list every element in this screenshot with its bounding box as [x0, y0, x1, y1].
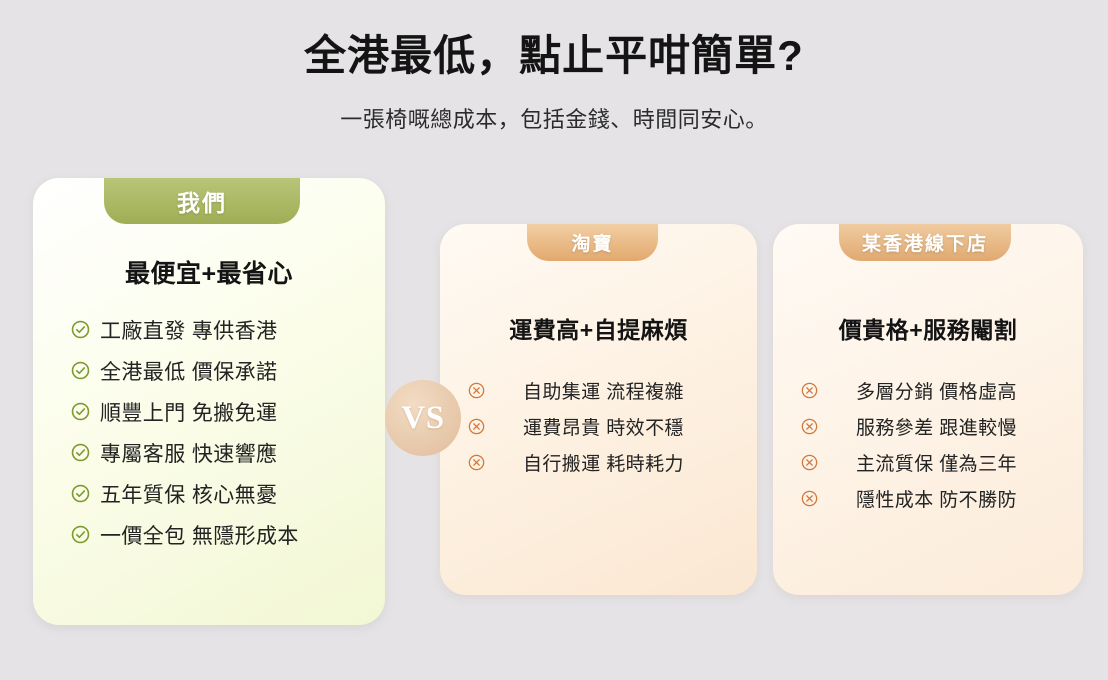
comparison-card-offline-store: 價貴格+服務閹割 多層分銷 價格虛高 服務參差 跟進較慢 主流質保 僅為三年	[773, 224, 1083, 595]
cross-circle-icon	[468, 454, 485, 471]
list-item: 五年質保 核心無憂	[71, 473, 363, 514]
cross-circle-icon	[468, 418, 485, 435]
list-item-label: 服務參差 跟進較慢	[856, 413, 1017, 440]
list-item-label: 全港最低 價保承諾	[100, 356, 277, 386]
comparison-card-taobao: 運費高+自提麻煩 自助集運 流程複雜 運費昂貴 時效不穩 自行搬運 耗時耗力	[440, 224, 757, 595]
card-taobao-badge: 淘寶	[527, 224, 658, 261]
check-circle-icon	[71, 484, 90, 503]
card-offline-badge: 某香港線下店	[839, 224, 1011, 261]
cross-circle-icon	[801, 382, 818, 399]
cross-circle-icon	[801, 490, 818, 507]
list-item: 順豐上門 免搬免運	[71, 391, 363, 432]
list-item: 全港最低 價保承諾	[71, 350, 363, 391]
list-item: 主流質保 僅為三年	[801, 444, 1069, 480]
list-item-label: 隱性成本 防不勝防	[856, 485, 1017, 512]
list-item: 運費昂貴 時效不穩	[468, 408, 743, 444]
vs-divider: VS	[385, 380, 461, 456]
check-circle-icon	[71, 402, 90, 421]
check-circle-icon	[71, 443, 90, 462]
cross-circle-icon	[468, 382, 485, 399]
page-subtitle: 一張椅嘅總成本，包括金錢、時間同安心。	[0, 80, 1108, 134]
list-item: 隱性成本 防不勝防	[801, 480, 1069, 516]
list-item-label: 工廠直發 專供香港	[100, 315, 277, 345]
list-item-label: 主流質保 僅為三年	[856, 449, 1017, 476]
card-us-feature-list: 工廠直發 專供香港 全港最低 價保承諾 順豐上門 免搬免運 專屬客服 快速響應	[71, 309, 363, 555]
card-taobao-heading: 運費高+自提麻煩	[440, 311, 757, 345]
card-taobao-surface: 運費高+自提麻煩 自助集運 流程複雜 運費昂貴 時效不穩 自行搬運 耗時耗力	[440, 224, 757, 595]
list-item-label: 一價全包 無隱形成本	[100, 520, 299, 550]
list-item-label: 順豐上門 免搬免運	[100, 397, 277, 427]
vs-label: VS	[401, 400, 444, 437]
list-item-label: 專屬客服 快速響應	[100, 438, 277, 468]
check-circle-icon	[71, 361, 90, 380]
list-item-label: 五年質保 核心無憂	[100, 479, 277, 509]
list-item-label: 多層分銷 價格虛高	[856, 377, 1017, 404]
list-item: 服務參差 跟進較慢	[801, 408, 1069, 444]
card-offline-feature-list: 多層分銷 價格虛高 服務參差 跟進較慢 主流質保 僅為三年 隱性成本 防不勝防	[801, 372, 1069, 516]
card-offline-surface: 價貴格+服務閹割 多層分銷 價格虛高 服務參差 跟進較慢 主流質保 僅為三年	[773, 224, 1083, 595]
card-us-heading: 最便宜+最省心	[33, 254, 385, 290]
comparison-card-us: 最便宜+最省心 工廠直發 專供香港 全港最低 價保承諾 順豐上門 免搬免運	[33, 178, 385, 625]
card-taobao-feature-list: 自助集運 流程複雜 運費昂貴 時效不穩 自行搬運 耗時耗力	[468, 372, 743, 480]
list-item: 自行搬運 耗時耗力	[468, 444, 743, 480]
list-item-label: 自行搬運 耗時耗力	[523, 449, 684, 476]
card-offline-heading: 價貴格+服務閹割	[773, 311, 1083, 345]
list-item: 多層分銷 價格虛高	[801, 372, 1069, 408]
card-us-badge: 我們	[104, 178, 300, 224]
check-circle-icon	[71, 525, 90, 544]
list-item: 自助集運 流程複雜	[468, 372, 743, 408]
list-item: 一價全包 無隱形成本	[71, 514, 363, 555]
list-item: 專屬客服 快速響應	[71, 432, 363, 473]
list-item-label: 運費昂貴 時效不穩	[523, 413, 684, 440]
header: 全港最低，點止平咁簡單? 一張椅嘅總成本，包括金錢、時間同安心。	[0, 0, 1108, 134]
card-us-surface: 最便宜+最省心 工廠直發 專供香港 全港最低 價保承諾 順豐上門 免搬免運	[33, 178, 385, 625]
page-title: 全港最低，點止平咁簡單?	[0, 0, 1108, 80]
cross-circle-icon	[801, 418, 818, 435]
check-circle-icon	[71, 320, 90, 339]
list-item-label: 自助集運 流程複雜	[523, 377, 684, 404]
list-item: 工廠直發 專供香港	[71, 309, 363, 350]
cross-circle-icon	[801, 454, 818, 471]
